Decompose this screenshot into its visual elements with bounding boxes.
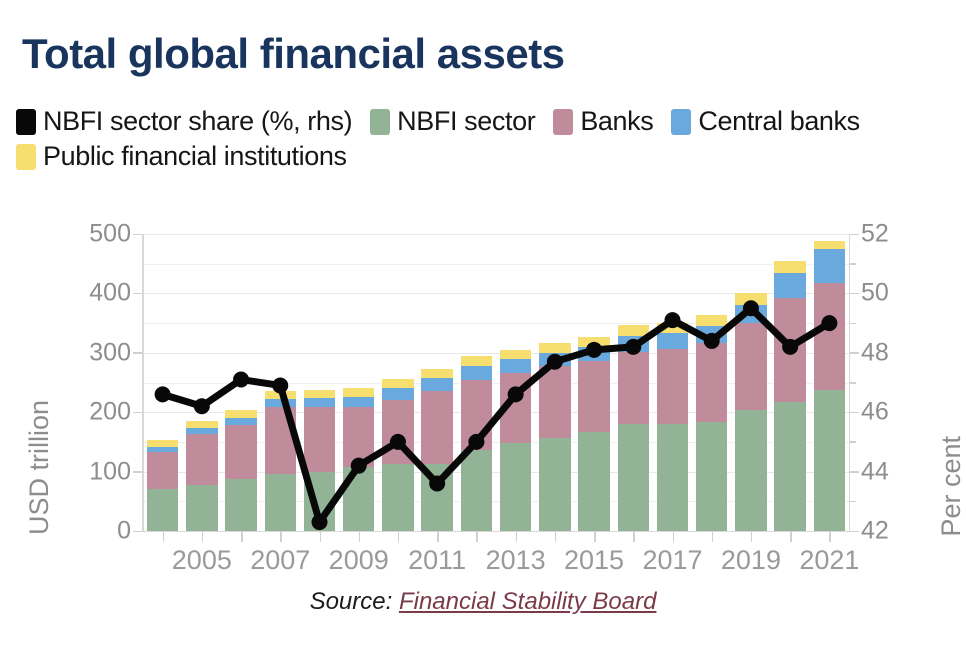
bar-segment[interactable] (539, 366, 570, 438)
bar-segment[interactable] (265, 399, 296, 407)
black-square-swatch (16, 109, 36, 135)
x-axis-tick-label: 2015 (564, 545, 624, 576)
bar-segment[interactable] (421, 369, 452, 378)
y-axis-right-tick-label: 42 (861, 517, 889, 546)
y-axis-tick-label: 0 (117, 517, 131, 546)
bar-segment[interactable] (657, 424, 688, 532)
x-axis-tick-label: 2005 (172, 545, 232, 576)
bar-segment[interactable] (421, 464, 452, 531)
bar-segment[interactable] (578, 337, 609, 347)
legend-label: NBFI sector share (%, rhs) (43, 108, 352, 135)
legend-item-nbfi-sector: NBFI sector (370, 108, 535, 135)
x-axis-tick-mark (673, 531, 675, 542)
bar-group[interactable] (147, 234, 178, 531)
bar-segment[interactable] (735, 305, 766, 322)
bar-segment[interactable] (382, 464, 413, 531)
bar-segment[interactable] (461, 380, 492, 450)
y-axis-right-tick-mark (849, 531, 859, 533)
y-axis-right-tick-mark (849, 352, 859, 354)
x-axis-tick-mark (202, 531, 204, 542)
bar-group[interactable] (186, 234, 217, 531)
bar-segment[interactable] (147, 452, 178, 489)
bar-segment[interactable] (657, 323, 688, 334)
bar-segment[interactable] (696, 343, 727, 422)
x-axis-tick-mark (516, 531, 518, 542)
x-axis-tick-label: 2017 (642, 545, 702, 576)
x-axis-tick-mark (790, 531, 792, 542)
y-axis-tick-mark (133, 352, 142, 354)
y-axis-right-tick-mark (849, 471, 859, 473)
bar-segment[interactable] (696, 326, 727, 343)
bar-segment[interactable] (814, 283, 845, 391)
bar-segment[interactable] (500, 359, 531, 373)
bar-segment[interactable] (539, 438, 570, 531)
x-axis-tick-label: 2011 (408, 545, 466, 576)
y-axis-tick-mark (133, 471, 142, 473)
x-axis-tick-label: 2013 (486, 545, 546, 576)
y-axis-right-minor-tick-mark (849, 441, 856, 443)
y-axis-tick-label: 200 (89, 398, 131, 427)
y-axis-right-tick-label: 44 (861, 457, 889, 486)
legend-label: NBFI sector (397, 108, 535, 135)
y-axis-tick-label: 500 (89, 220, 131, 249)
bar-segment[interactable] (186, 428, 217, 433)
y-axis-right-tick-mark (849, 234, 859, 236)
x-axis-tick-mark (320, 531, 322, 542)
bar-segment[interactable] (618, 325, 649, 336)
bar-segment[interactable] (225, 418, 256, 425)
bar-group[interactable] (696, 234, 727, 531)
y-axis-tick-mark (133, 234, 142, 236)
bar-group[interactable] (814, 234, 845, 531)
bar-segment[interactable] (696, 315, 727, 326)
bar-segment[interactable] (461, 366, 492, 380)
bar-segment[interactable] (461, 450, 492, 531)
bar-group[interactable] (304, 234, 335, 531)
y-axis-right-minor-tick-mark (849, 382, 856, 384)
bar-segment[interactable] (304, 472, 335, 531)
bar-segment[interactable] (618, 424, 649, 531)
x-axis-tick-mark (751, 531, 753, 542)
chart-plot-area: USD trillion Per cent 0100200300400500 4… (0, 200, 966, 600)
source-link[interactable]: Financial Stability Board (399, 588, 656, 615)
bar-segment[interactable] (774, 298, 805, 402)
y-axis-right-tick-label: 50 (861, 279, 889, 308)
bar-segment[interactable] (382, 379, 413, 388)
bar-group[interactable] (225, 234, 256, 531)
bar-group[interactable] (735, 234, 766, 531)
x-axis-tick-label: 2007 (250, 545, 310, 576)
bar-group[interactable] (461, 234, 492, 531)
y-axis-right-tick-label: 48 (861, 338, 889, 367)
bar-group[interactable] (578, 234, 609, 531)
bar-segment[interactable] (147, 489, 178, 531)
bar-segment[interactable] (343, 407, 374, 466)
y-axis-tick-mark (133, 412, 142, 414)
rose-square-swatch (553, 109, 573, 135)
y-axis-right-tick-label: 46 (861, 398, 889, 427)
bar-segment[interactable] (147, 447, 178, 452)
bar-group[interactable] (343, 234, 374, 531)
bar-segment[interactable] (343, 397, 374, 408)
bar-group[interactable] (618, 234, 649, 531)
y-axis-tick-mark (133, 531, 142, 533)
yellow-square-swatch (16, 144, 36, 170)
bar-segment[interactable] (225, 479, 256, 531)
bar-group[interactable] (500, 234, 531, 531)
bar-segment[interactable] (421, 391, 452, 465)
bar-series-layer (143, 234, 849, 531)
bar-segment[interactable] (814, 249, 845, 283)
bar-segment[interactable] (225, 410, 256, 418)
bar-segment[interactable] (304, 407, 335, 472)
x-axis-tick-mark (829, 531, 831, 542)
x-axis-tick-label: 2009 (329, 545, 389, 576)
y-axis-right-tick-mark (849, 412, 859, 414)
bar-segment[interactable] (147, 440, 178, 447)
bar-segment[interactable] (265, 391, 296, 399)
bar-segment[interactable] (774, 261, 805, 273)
x-axis-tick-mark (712, 531, 714, 542)
bar-segment[interactable] (304, 398, 335, 408)
x-axis-labels: 200520072009201120132015201720192021 (0, 545, 966, 585)
bar-segment[interactable] (186, 421, 217, 428)
green-square-swatch (370, 109, 390, 135)
y-axis-tick-label: 300 (89, 338, 131, 367)
bar-segment[interactable] (461, 356, 492, 366)
bar-group[interactable] (657, 234, 688, 531)
x-axis-tick-mark (163, 531, 165, 542)
bar-segment[interactable] (500, 373, 531, 443)
bar-segment[interactable] (618, 352, 649, 424)
bar-segment[interactable] (421, 378, 452, 391)
y-axis-tick-mark (133, 293, 142, 295)
y-axis-tick-label: 400 (89, 279, 131, 308)
bar-segment[interactable] (657, 333, 688, 349)
bar-segment[interactable] (814, 390, 845, 531)
legend-item-nbfi-share: NBFI sector share (%, rhs) (16, 108, 352, 135)
y-axis-right-minor-tick-mark (849, 501, 856, 503)
bar-segment[interactable] (265, 474, 296, 531)
bar-segment[interactable] (539, 353, 570, 367)
bar-segment[interactable] (578, 361, 609, 432)
y-axis-right-minor-tick-mark (849, 323, 856, 325)
x-axis-tick-mark (437, 531, 439, 542)
plot-canvas: 0100200300400500 424446485052 (143, 234, 849, 531)
x-axis-tick-mark (633, 531, 635, 542)
x-axis-tick-mark (555, 531, 557, 542)
bar-segment[interactable] (382, 400, 413, 464)
bar-segment[interactable] (343, 467, 374, 531)
x-axis-tick-label: 2019 (721, 545, 781, 576)
bar-group[interactable] (774, 234, 805, 531)
x-axis-tick-mark (594, 531, 596, 542)
bar-segment[interactable] (265, 407, 296, 474)
chart-legend: NBFI sector share (%, rhs) NBFI sector B… (16, 108, 956, 170)
bar-segment[interactable] (657, 349, 688, 423)
x-axis-ticks (143, 531, 849, 543)
legend-row-2: Public financial institutions (16, 143, 956, 170)
x-axis-tick-mark (241, 531, 243, 542)
blue-square-swatch (671, 109, 691, 135)
bar-group[interactable] (421, 234, 452, 531)
y-axis-label-left: USD trillion (24, 400, 55, 535)
bar-segment[interactable] (735, 293, 766, 305)
bar-segment[interactable] (382, 388, 413, 400)
legend-label: Public financial institutions (43, 143, 347, 170)
y-axis-right-tick-mark (849, 293, 859, 295)
x-axis-tick-label: 2021 (799, 545, 859, 576)
bar-segment[interactable] (304, 390, 335, 398)
bar-group[interactable] (265, 234, 296, 531)
legend-item-public-financial-institutions: Public financial institutions (16, 143, 347, 170)
legend-label: Banks (580, 108, 653, 135)
y-axis-right-tick-label: 52 (861, 220, 889, 249)
bar-segment[interactable] (343, 388, 374, 396)
bar-segment[interactable] (539, 343, 570, 353)
x-axis-tick-mark (398, 531, 400, 542)
bar-segment[interactable] (774, 402, 805, 531)
bar-segment[interactable] (225, 425, 256, 479)
bar-segment[interactable] (696, 422, 727, 531)
bar-group[interactable] (382, 234, 413, 531)
x-axis-tick-mark (359, 531, 361, 542)
bar-segment[interactable] (774, 273, 805, 298)
bar-group[interactable] (539, 234, 570, 531)
bar-segment[interactable] (578, 432, 609, 531)
bar-segment[interactable] (186, 434, 217, 485)
bar-segment[interactable] (735, 410, 766, 531)
y-axis-tick-label: 100 (89, 457, 131, 486)
bar-segment[interactable] (578, 347, 609, 361)
bar-segment[interactable] (186, 485, 217, 531)
legend-item-central-banks: Central banks (671, 108, 859, 135)
source-note: Source: Financial Stability Board (0, 588, 966, 616)
bar-segment[interactable] (618, 336, 649, 351)
y-axis-label-right: Per cent (936, 436, 966, 537)
legend-label: Central banks (698, 108, 859, 135)
x-axis-tick-mark (476, 531, 478, 542)
x-axis-tick-mark (280, 531, 282, 542)
page-title: Total global financial assets (22, 30, 565, 78)
bar-segment[interactable] (500, 443, 531, 531)
bar-segment[interactable] (500, 350, 531, 360)
legend-item-banks: Banks (553, 108, 653, 135)
legend-row-1: NBFI sector share (%, rhs) NBFI sector B… (16, 108, 956, 135)
bar-segment[interactable] (735, 323, 766, 411)
bar-segment[interactable] (814, 241, 845, 249)
y-axis-right-minor-tick-mark (849, 263, 856, 265)
source-prefix: Source: (310, 588, 399, 615)
